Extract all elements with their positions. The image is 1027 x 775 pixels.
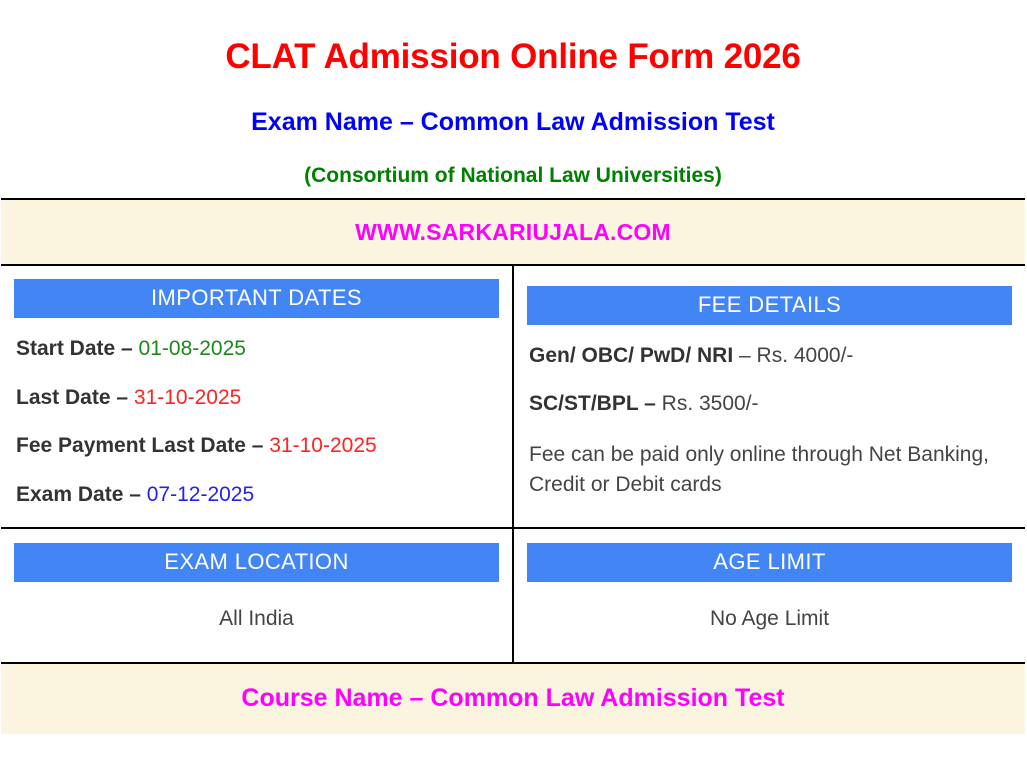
age-limit-heading: AGE LIMIT xyxy=(527,543,1012,582)
general-fee-value: – Rs. 4000/- xyxy=(739,344,853,367)
exam-location-panel: EXAM LOCATION All India xyxy=(1,528,513,662)
course-name-text: Course Name – Common Law Admission Test xyxy=(241,684,784,712)
fee-payment-last-date-label: Fee Payment Last Date – xyxy=(16,434,269,457)
fee-payment-last-date-value: 31-10-2025 xyxy=(269,434,376,457)
exam-location-heading: EXAM LOCATION xyxy=(14,543,499,582)
last-date-value: 31-10-2025 xyxy=(134,386,241,409)
list-item: Exam Date – 07-12-2025 xyxy=(16,482,497,508)
site-banner-row: WWW.SARKARIUJALA.COM xyxy=(1,199,1025,265)
list-item: Start Date – 01-08-2025 xyxy=(16,336,497,362)
location-age-row: EXAM LOCATION All India AGE LIMIT No Age… xyxy=(1,528,1025,662)
exam-location-value: All India xyxy=(14,582,499,661)
important-dates-list: Start Date – 01-08-2025 Last Date – 31-1… xyxy=(14,318,499,513)
header-row: CLAT Admission Online Form 2026 Exam Nam… xyxy=(1,0,1025,199)
reserved-fee-label: SC/ST/BPL – xyxy=(529,392,662,415)
header-cell: CLAT Admission Online Form 2026 Exam Nam… xyxy=(1,0,1025,199)
notification-table: CLAT Admission Online Form 2026 Exam Nam… xyxy=(1,0,1025,734)
organisation-subtitle: (Consortium of National Law Universities… xyxy=(1,164,1025,188)
fee-details-heading: FEE DETAILS xyxy=(527,286,1012,325)
exam-date-value: 07-12-2025 xyxy=(147,483,254,506)
important-dates-heading: IMPORTANT DATES xyxy=(14,279,499,318)
list-item: Fee Payment Last Date – 31-10-2025 xyxy=(16,433,497,459)
clat-notification-card: CLAT Admission Online Form 2026 Exam Nam… xyxy=(0,0,1027,775)
last-date-label: Last Date – xyxy=(16,386,134,409)
exam-name-subtitle: Exam Name – Common Law Admission Test xyxy=(1,108,1025,136)
fee-details-list: Gen/ OBC/ PwD/ NRI – Rs. 4000/- SC/ST/BP… xyxy=(527,325,1012,507)
start-date-label: Start Date – xyxy=(16,337,139,360)
course-name-cell: Course Name – Common Law Admission Test xyxy=(1,663,1025,734)
age-limit-value: No Age Limit xyxy=(527,582,1012,661)
list-item: Last Date – 31-10-2025 xyxy=(16,385,497,411)
list-item: SC/ST/BPL – Rs. 3500/- xyxy=(529,391,1010,417)
age-limit-panel: AGE LIMIT No Age Limit xyxy=(513,528,1025,662)
fee-details-panel: FEE DETAILS Gen/ OBC/ PwD/ NRI – Rs. 400… xyxy=(513,265,1025,528)
dates-fees-row: IMPORTANT DATES Start Date – 01-08-2025 … xyxy=(1,265,1025,528)
start-date-value: 01-08-2025 xyxy=(139,337,246,360)
website-url-text[interactable]: WWW.SARKARIUJALA.COM xyxy=(355,219,671,245)
list-item: Gen/ OBC/ PwD/ NRI – Rs. 4000/- xyxy=(529,343,1010,369)
general-fee-label: Gen/ OBC/ PwD/ NRI xyxy=(529,344,739,367)
fee-payment-note: Fee can be paid only online through Net … xyxy=(529,440,1010,501)
exam-date-label: Exam Date – xyxy=(16,483,147,506)
important-dates-panel: IMPORTANT DATES Start Date – 01-08-2025 … xyxy=(1,265,513,528)
reserved-fee-value: Rs. 3500/- xyxy=(662,392,759,415)
page-title: CLAT Admission Online Form 2026 xyxy=(1,37,1025,76)
course-name-row: Course Name – Common Law Admission Test xyxy=(1,663,1025,734)
site-banner-cell: WWW.SARKARIUJALA.COM xyxy=(1,199,1025,265)
